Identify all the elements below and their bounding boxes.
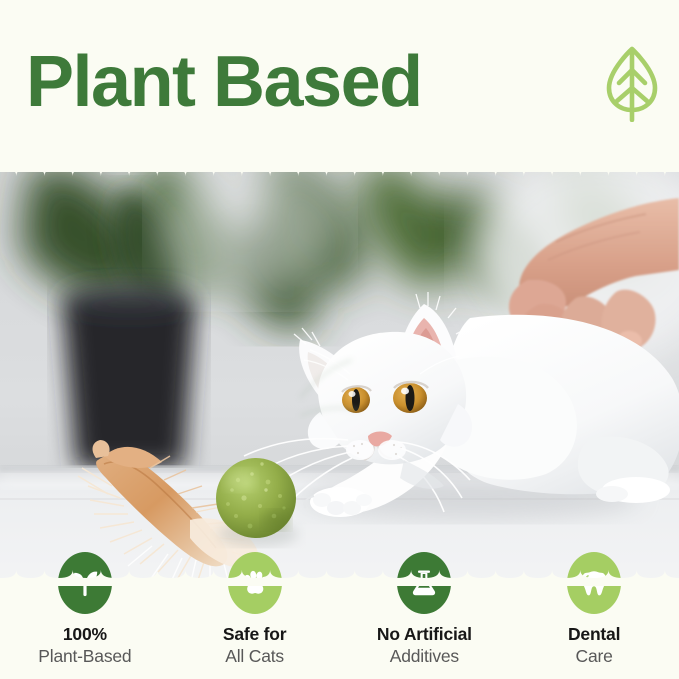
- hero-photo-illustration: [0, 168, 679, 586]
- feature-item-plant-based[interactable]: 100% Plant-Based: [0, 586, 170, 679]
- feature-label-line1: Dental: [509, 624, 679, 645]
- hero-photo: [0, 168, 679, 586]
- header-banner: Plant Based: [0, 0, 679, 172]
- plant-pot: [61, 286, 197, 468]
- feature-bar: 100% Plant-Based Safe for All Ca: [0, 586, 679, 679]
- flask-icon: [409, 568, 439, 598]
- sprout-icon: [70, 568, 100, 598]
- feature-label-line1: No Artificial: [340, 624, 510, 645]
- feature-label-line2: Additives: [340, 645, 510, 667]
- feature-badge-circle: [228, 552, 282, 614]
- paw-icon: [240, 568, 270, 598]
- feature-label-line2: All Cats: [170, 645, 340, 667]
- feature-label-line1: 100%: [0, 624, 170, 645]
- feature-badge-circle: [397, 552, 451, 614]
- leaf-icon: [603, 44, 661, 122]
- feature-item-safe-for-all-cats[interactable]: Safe for All Cats: [170, 586, 340, 679]
- feature-label-line2: Care: [509, 645, 679, 667]
- feature-item-dental-care[interactable]: Dental Care: [509, 586, 679, 679]
- page-title: Plant Based: [26, 46, 422, 118]
- product-infographic-card: Plant Based: [0, 0, 679, 679]
- feature-item-no-artificial-additives[interactable]: No Artificial Additives: [340, 586, 510, 679]
- feature-label-line2: Plant-Based: [0, 645, 170, 667]
- feature-label-line1: Safe for: [170, 624, 340, 645]
- tooth-icon: [579, 568, 609, 598]
- feature-badge-circle: [58, 552, 112, 614]
- feature-badge-circle: [567, 552, 621, 614]
